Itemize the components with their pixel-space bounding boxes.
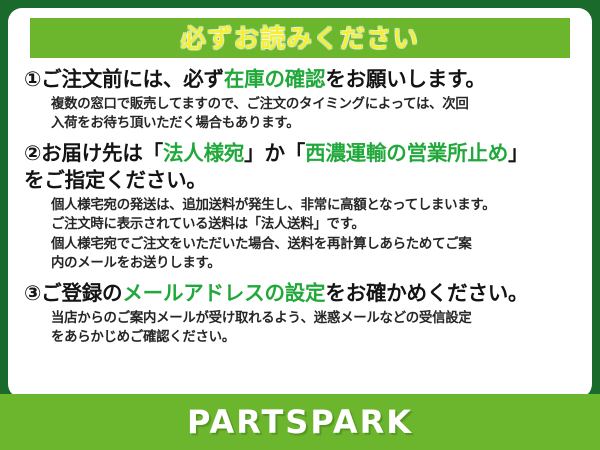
- section-2-heading-line-1: ②お届け先は「法人様宛」か「西濃運輸の営業所止め」: [24, 140, 578, 167]
- section-1-heading-part-1: ①ご注文前には、必ず: [24, 67, 224, 91]
- section-2-subline-1: 個人様宅宛の発送は、追加送料が発生し、非常に高額となってしまいます。: [51, 196, 578, 215]
- section-2-heading-line2-part-1: をご指定ください。: [24, 168, 207, 192]
- section-1-heading: ①ご注文前には、必ず在庫の確認をお願いします。: [24, 66, 578, 93]
- section-2-heading-highlight-1: 法人様宛: [163, 141, 244, 165]
- section-2-sublines: 個人様宅宛の発送は、追加送料が発生し、非常に高額となってしまいます。 ご注文時に…: [24, 196, 578, 274]
- section-2-subline-3: 個人様宅宛でご注文をいただいた場合、送料を再計算しあらためてご案: [51, 235, 578, 254]
- section-3-subline-1: 当店からのご案内メールが受け取れるよう、迷惑メールなどの受信設定: [51, 309, 578, 328]
- section-3-heading: ③ご登録のメールアドレスの設定をお確かめください。: [24, 280, 578, 307]
- section-2-heading-part-5: 」: [508, 141, 528, 165]
- section-2-subline-4: 内のメールをお送りします。: [51, 254, 578, 273]
- section-2-subline-2: ご注文時に表示されている送料は「法人送料」です。: [51, 215, 578, 234]
- section-1-heading-highlight: 在庫の確認: [224, 67, 326, 91]
- section-1-sublines: 複数の窓口で販売してますので、ご注文のタイミングによっては、次回 入荷をお待ち頂…: [24, 95, 578, 134]
- section-2-heading-part-1: ②お届け先は「: [24, 141, 163, 165]
- notice-title: 必ずお読みください: [181, 26, 420, 51]
- section-3-heading-part-1: ③ご登録の: [24, 281, 122, 305]
- section-3-subline-2: をあらかじめご確認ください。: [51, 328, 578, 347]
- notice-body: ①ご注文前には、必ず在庫の確認をお願いします。 複数の窓口で販売してますので、ご…: [8, 66, 592, 354]
- footer-bar: PARTSPARK: [0, 394, 600, 450]
- title-banner: 必ずお読みください: [30, 18, 570, 58]
- section-2-heading-highlight-2: 西濃運輸の営業所止め: [305, 141, 508, 165]
- section-2-heading-part-3: 」か「: [244, 141, 305, 165]
- section-3-heading-part-3: をお確かめください。: [325, 281, 528, 305]
- notice-section-2: ②お届け先は「法人様宛」か「西濃運輸の営業所止め」 をご指定ください。 個人様宅…: [24, 140, 578, 274]
- brand-logo: PARTSPARK: [187, 403, 413, 441]
- notice-banner: 必ずお読みください ①ご注文前には、必ず在庫の確認をお願いします。 複数の窓口で…: [0, 0, 600, 450]
- section-2-heading-line-2: をご指定ください。: [24, 167, 578, 194]
- section-1-heading-part-3: をお願いします。: [325, 67, 485, 91]
- section-3-sublines: 当店からのご案内メールが受け取れるよう、迷惑メールなどの受信設定 をあらかじめご…: [24, 309, 578, 348]
- notice-section-1: ①ご注文前には、必ず在庫の確認をお願いします。 複数の窓口で販売してますので、ご…: [24, 66, 578, 134]
- section-3-heading-highlight: メールアドレスの設定: [122, 281, 325, 305]
- notice-panel: 必ずお読みください ①ご注文前には、必ず在庫の確認をお願いします。 複数の窓口で…: [8, 8, 592, 398]
- notice-section-3: ③ご登録のメールアドレスの設定をお確かめください。 当店からのご案内メールが受け…: [24, 280, 578, 348]
- section-1-subline-1: 複数の窓口で販売してますので、ご注文のタイミングによっては、次回: [51, 95, 578, 114]
- section-1-subline-2: 入荷をお待ち頂いただく場合もあります。: [51, 114, 578, 133]
